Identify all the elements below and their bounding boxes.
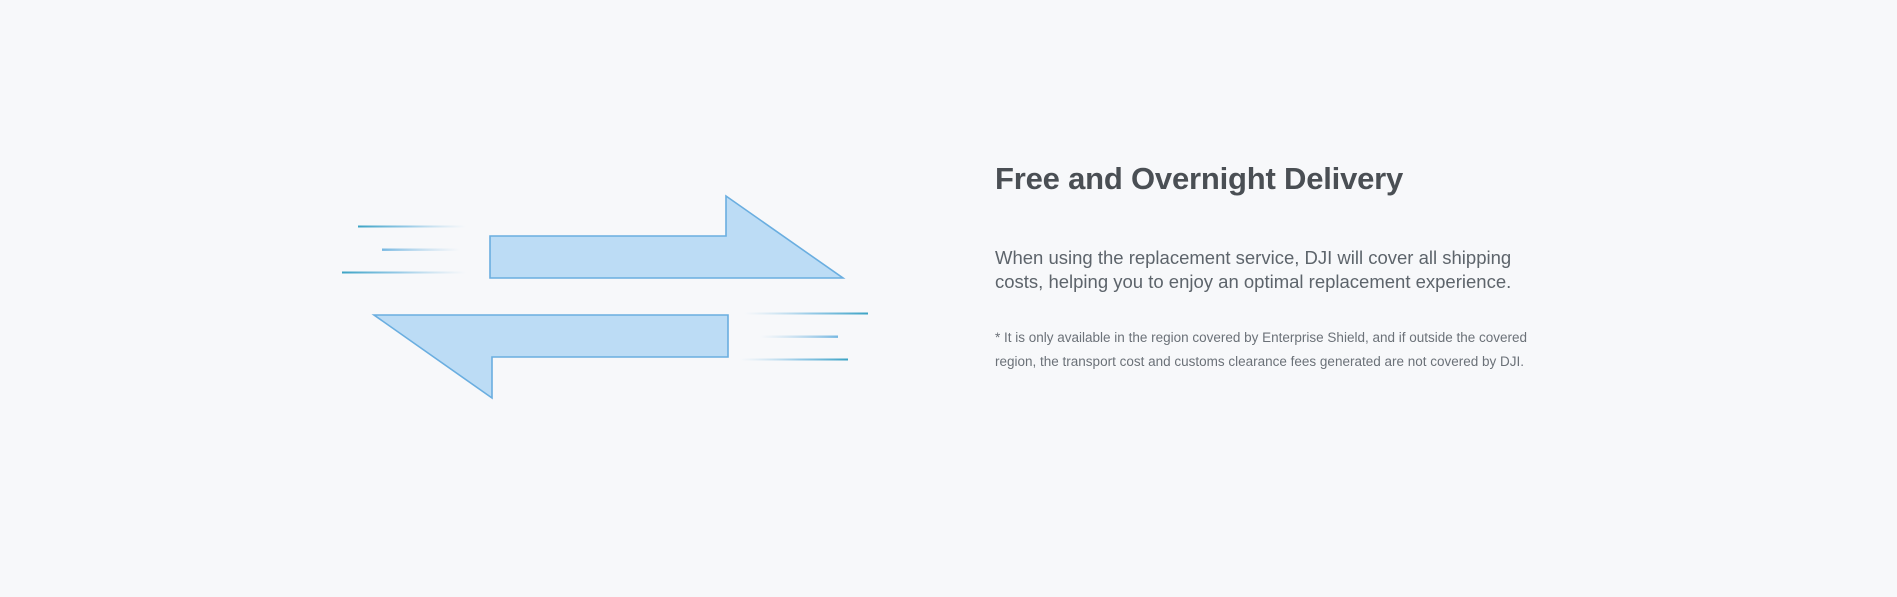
free-overnight-delivery-section: Free and Overnight Delivery When using t… — [0, 0, 1897, 597]
two-way-delivery-arrows-illustration — [340, 140, 900, 420]
feature-footnote: * It is only available in the region cov… — [995, 294, 1540, 374]
speed-lines-left — [342, 226, 466, 274]
feature-description: When using the replacement service, DJI … — [995, 198, 1525, 294]
speed-lines-right — [740, 313, 868, 361]
right-pointing-arrow — [490, 196, 843, 278]
page-title: Free and Overnight Delivery — [995, 160, 1615, 198]
feature-text-column: Free and Overnight Delivery When using t… — [995, 160, 1615, 374]
left-pointing-arrow — [374, 315, 728, 398]
